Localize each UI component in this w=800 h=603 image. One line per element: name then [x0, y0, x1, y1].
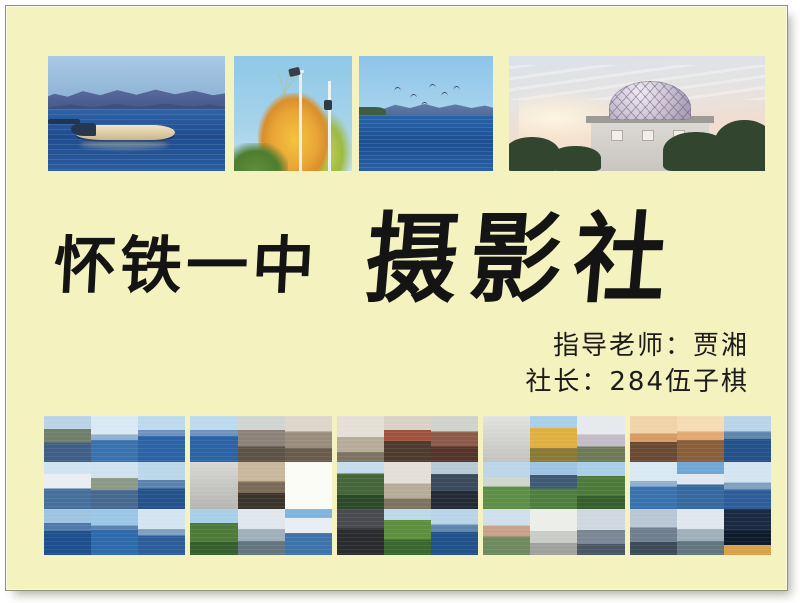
collage-photo-cell: [431, 416, 478, 462]
collage-photo-cell: [677, 509, 724, 555]
collage-photo-cell: [91, 509, 138, 555]
collage-photo-cell: [138, 462, 185, 508]
collage-photo-cell: [577, 416, 624, 462]
collage-photo-cell: [724, 462, 771, 508]
poster-frame: 怀铁一中 摄影社 指导老师：贾湘 社长：284伍子棋: [5, 5, 788, 591]
collage-photo-cell: [431, 462, 478, 508]
poster-credits: 指导老师：贾湘 社长：284伍子棋: [329, 328, 749, 400]
collage-photo-cell: [630, 509, 677, 555]
collage-photo-cell: [530, 509, 577, 555]
poster-canvas: 怀铁一中 摄影社 指导老师：贾湘 社长：284伍子棋: [0, 0, 800, 603]
collage-photo-cell: [44, 509, 91, 555]
collage-photo-cell: [483, 416, 530, 462]
collage-photo-cell: [138, 509, 185, 555]
collage-photo-cell: [384, 416, 431, 462]
bird-icon: [420, 102, 428, 108]
collage-photo-cell: [337, 509, 384, 555]
collage-photo-cell: [530, 462, 577, 508]
collage-photo-cell: [630, 462, 677, 508]
collage-photo-cell: [384, 509, 431, 555]
collage-photo-cell: [44, 462, 91, 508]
president-line: 社长：284伍子棋: [329, 364, 749, 400]
title-club-name: 摄影社: [362, 210, 683, 308]
collage-photo-cell: [91, 416, 138, 462]
photo-wooden-boat-on-lake: [48, 56, 225, 171]
collage-photo-cell: [724, 416, 771, 462]
top-photo-strip: [48, 56, 765, 171]
collage-photo-cell: [483, 462, 530, 508]
collage-photo-cell: [677, 462, 724, 508]
collage-photo-cell: [483, 509, 530, 555]
collage-block-oldtown: [337, 416, 478, 555]
collage-block-campus: [483, 416, 624, 555]
collage-block-lakes: [44, 416, 185, 555]
photo-layer: [234, 56, 352, 171]
collage-photo-cell: [530, 416, 577, 462]
collage-photo-cell: [577, 509, 624, 555]
collage-block-village: [190, 416, 331, 555]
collage-photo-cell: [431, 509, 478, 555]
collage-photo-cell: [44, 416, 91, 462]
photo-lake-with-birds: [359, 56, 493, 171]
collage-photo-cell: [238, 509, 285, 555]
photo-collage: [44, 416, 771, 555]
bird-icon: [410, 93, 418, 99]
collage-photo-cell: [337, 462, 384, 508]
photo-autumn-trees-street-lamp: [234, 56, 352, 171]
collage-photo-cell: [91, 462, 138, 508]
title-school-name: 怀铁一中: [52, 235, 319, 297]
collage-photo-cell: [677, 416, 724, 462]
collage-photo-cell: [190, 509, 237, 555]
photo-geodesic-dome-building: [509, 56, 765, 171]
collage-photo-cell: [337, 416, 384, 462]
bird-icon: [394, 87, 402, 93]
photo-layer: [359, 56, 493, 171]
bird-icon: [452, 85, 460, 91]
advisor-line: 指导老师：贾湘: [329, 328, 749, 364]
collage-photo-cell: [285, 462, 332, 508]
collage-photo-cell: [238, 416, 285, 462]
photo-layer: [509, 56, 765, 171]
collage-photo-cell: [238, 462, 285, 508]
poster-title: 怀铁一中 摄影社: [46, 211, 761, 316]
collage-photo-cell: [138, 416, 185, 462]
collage-photo-cell: [630, 416, 677, 462]
collage-photo-cell: [190, 462, 237, 508]
collage-photo-cell: [285, 416, 332, 462]
collage-block-sunsets: [630, 416, 771, 555]
photo-layer: [48, 56, 225, 171]
collage-photo-cell: [384, 462, 431, 508]
collage-photo-cell: [577, 462, 624, 508]
collage-photo-cell: [724, 509, 771, 555]
collage-photo-cell: [190, 416, 237, 462]
collage-photo-cell: [285, 509, 332, 555]
